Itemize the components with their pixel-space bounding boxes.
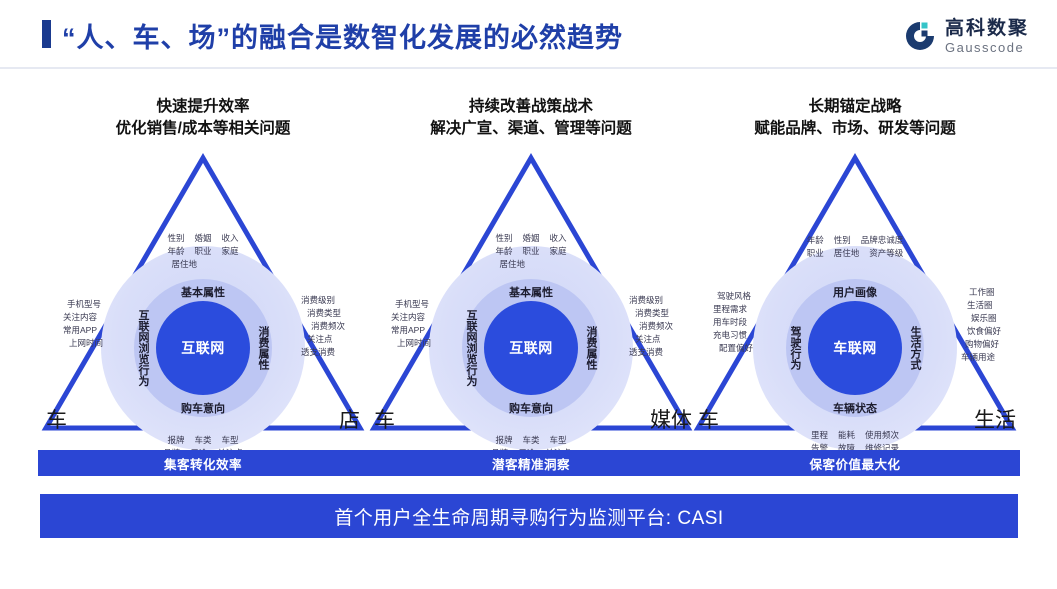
logo-text-en: Gausscode [945, 41, 1029, 54]
corner-label-right: 媒体 [650, 404, 692, 434]
outer-label: 居住地 [834, 247, 860, 260]
outer-labels-left: 驾驶风格 里程需求 用车时段 充电习惯 配置偏好 [713, 290, 753, 355]
outer-labels-right: 工作圈 生活圈 娱乐圈 饮食偏好 购物偏好 车辆用途 [961, 286, 1001, 364]
outer-label: 年龄 [167, 245, 184, 258]
outer-label: 消费类型 [307, 308, 341, 318]
triangle-diagram: 人 车 店 互联网 互联网 基本属性 购车意向 互联网浏览行为 消费属性 性别婚… [38, 150, 368, 440]
outer-label: 工作圈 [969, 287, 995, 297]
outer-label: 饮食偏好 [967, 326, 1001, 336]
outer-label: 透支消费 [629, 347, 663, 357]
heading-line-2: 赋能品牌、市场、研发等问题 [690, 118, 1020, 140]
heading-line-2: 解决广宣、渠道、管理等问题 [366, 118, 696, 140]
outer-label: 车类 [522, 434, 539, 447]
outer-label: 上网时间 [69, 338, 103, 348]
outer-label: 常用APP [63, 325, 97, 335]
outer-label: 职业 [807, 247, 824, 260]
outer-label: 驾驶风格 [717, 291, 751, 301]
outer-labels-right: 消费级别 消费类型 消费频次 关注点 透支消费 [301, 294, 345, 359]
corner-label-right: 店 [339, 404, 360, 434]
diagram-column-1: 快速提升效率 优化销售/成本等相关问题 人 车 店 互联网 互联网 基本属性 购… [38, 78, 368, 508]
outer-label: 使用频次 [865, 429, 899, 442]
corner-label-left: 车 [374, 404, 395, 434]
stage-bar: 集客转化效率 [38, 450, 368, 476]
outer-label: 年龄 [495, 245, 512, 258]
triangle-diagram: 人 车 媒体 互联网 互联网 基本属性 购车意向 互联网浏览行为 消费属性 性别… [366, 150, 696, 440]
outer-label: 充电习惯 [713, 330, 747, 340]
footer-banner: 首个用户全生命周期寻购行为监测平台: CASI [40, 494, 1018, 538]
concentric-rings: 互联网 互联网 基本属性 购车意向 互联网浏览行为 消费属性 性别婚姻收入 年龄… [101, 246, 305, 450]
outer-label: 报牌 [167, 434, 184, 447]
ring-label-right: 消费属性 [583, 326, 599, 370]
outer-label: 居住地 [499, 258, 525, 271]
outer-label: 品牌忠诚度 [861, 234, 904, 247]
outer-label: 上网时间 [397, 338, 431, 348]
outer-label: 关注内容 [63, 312, 97, 322]
outer-label: 性别 [834, 234, 851, 247]
outer-labels-top: 性别婚姻收入 年龄职业家庭 居住地 [162, 232, 243, 271]
ring-label-right: 生活方式 [907, 326, 923, 370]
ring-label-left: 互联网浏览行为 [135, 310, 151, 387]
ring-label-left: 驾驶行为 [787, 326, 803, 370]
outer-labels-left: 手机型号 关注内容 常用APP 上网时间 [63, 298, 103, 350]
outer-label: 消费类型 [635, 308, 669, 318]
outer-labels-top: 年龄性别品牌忠诚度 职业居住地资产等级 [802, 234, 909, 260]
outer-label: 生活圈 [967, 300, 993, 310]
outer-label: 消费级别 [629, 295, 663, 305]
outer-label: 车辆用途 [961, 352, 995, 362]
ring-label-left: 互联网浏览行为 [463, 310, 479, 387]
ring-core-label: 车联网 [833, 338, 877, 358]
outer-label: 职业 [522, 245, 539, 258]
heading-line-2: 优化销售/成本等相关问题 [38, 118, 368, 140]
stage-bar: 潜客精准洞察 [366, 450, 696, 476]
outer-label: 收入 [550, 232, 567, 245]
outer-label: 居住地 [171, 258, 197, 271]
heading-line-1: 快速提升效率 [38, 96, 368, 118]
ring-label-right: 消费属性 [255, 326, 271, 370]
outer-label: 里程 [811, 429, 828, 442]
outer-label: 车类 [194, 434, 211, 447]
diagram-column-2: 持续改善战策战术 解决广宣、渠道、管理等问题 人 车 媒体 互联网 互联网 基本… [366, 78, 696, 508]
outer-label: 手机型号 [395, 299, 429, 309]
brand-logo: 高科数聚 Gausscode [903, 14, 1029, 58]
outer-label: 关注内容 [391, 312, 425, 322]
outer-label: 消费频次 [639, 321, 673, 331]
ring-core: 互联网 [156, 301, 250, 395]
header-divider [0, 67, 1057, 69]
outer-labels-left: 手机型号 关注内容 常用APP 上网时间 [391, 298, 431, 350]
outer-label: 常用APP [391, 325, 425, 335]
outer-label: 婚姻 [194, 232, 211, 245]
outer-label: 收入 [222, 232, 239, 245]
outer-label: 资产等级 [869, 247, 903, 260]
ring-core-label: 互联网 [181, 338, 225, 358]
outer-label: 报牌 [495, 434, 512, 447]
outer-label: 消费频次 [311, 321, 345, 331]
ring-core: 车联网 [808, 301, 902, 395]
outer-label: 车型 [550, 434, 567, 447]
outer-label: 家庭 [550, 245, 567, 258]
outer-label: 消费级别 [301, 295, 335, 305]
outer-label: 性别 [167, 232, 184, 245]
stage-bar-label: 潜客精准洞察 [492, 454, 570, 473]
outer-label: 关注点 [635, 334, 661, 344]
triangle-diagram: 人 车 生活 车联网 车联网 用户画像 车辆状态 驾驶行为 生活方式 年龄性别品… [690, 150, 1020, 440]
diagram-column-3: 长期锚定战略 赋能品牌、市场、研发等问题 人 车 生活 车联网 车联网 用户画像… [690, 78, 1020, 508]
stage-bar-label: 保客价值最大化 [809, 454, 900, 473]
footer-banner-label: 首个用户全生命周期寻购行为监测平台: CASI [334, 503, 723, 530]
diagram-columns: 快速提升效率 优化销售/成本等相关问题 人 车 店 互联网 互联网 基本属性 购… [0, 78, 1057, 508]
corner-label-right: 生活 [974, 404, 1016, 434]
outer-label: 能耗 [838, 429, 855, 442]
title-accent-bar [42, 20, 51, 48]
heading-line-1: 持续改善战策战术 [366, 96, 696, 118]
logo-text-cn: 高科数聚 [945, 19, 1029, 38]
ring-label-bottom: 购车意向 [181, 400, 225, 416]
page-title: “人、车、场”的融合是数智化发展的必然趋势 [62, 16, 623, 55]
outer-label: 里程需求 [713, 304, 747, 314]
corner-label-left: 车 [46, 404, 67, 434]
concentric-rings: 车联网 车联网 用户画像 车辆状态 驾驶行为 生活方式 年龄性别品牌忠诚度 职业… [753, 246, 957, 450]
outer-label: 家庭 [222, 245, 239, 258]
outer-label: 配置偏好 [719, 343, 753, 353]
outer-label: 职业 [194, 245, 211, 258]
outer-labels-top: 性别婚姻收入 年龄职业家庭 居住地 [490, 232, 571, 271]
ring-label-top: 基本属性 [181, 284, 225, 300]
page-header: “人、车、场”的融合是数智化发展的必然趋势 高科数聚 Gausscode [0, 0, 1057, 68]
outer-label: 手机型号 [67, 299, 101, 309]
outer-label: 车型 [222, 434, 239, 447]
logo-icon [903, 19, 937, 53]
ring-label-bottom: 购车意向 [509, 400, 553, 416]
outer-label: 购物偏好 [965, 339, 999, 349]
column-heading: 持续改善战策战术 解决广宣、渠道、管理等问题 [366, 96, 696, 140]
column-heading: 快速提升效率 优化销售/成本等相关问题 [38, 96, 368, 140]
ring-label-top: 基本属性 [509, 284, 553, 300]
outer-label: 年龄 [807, 234, 824, 247]
corner-label-left: 车 [698, 404, 719, 434]
outer-label: 用车时段 [713, 317, 747, 327]
outer-label: 性别 [495, 232, 512, 245]
stage-bar: 保客价值最大化 [690, 450, 1020, 476]
ring-core-label: 互联网 [509, 338, 553, 358]
outer-label: 婚姻 [522, 232, 539, 245]
outer-label: 透支消费 [301, 347, 335, 357]
ring-label-bottom: 车辆状态 [833, 400, 877, 416]
outer-label: 娱乐圈 [971, 313, 997, 323]
ring-core: 互联网 [484, 301, 578, 395]
concentric-rings: 互联网 互联网 基本属性 购车意向 互联网浏览行为 消费属性 性别婚姻收入 年龄… [429, 246, 633, 450]
outer-label: 关注点 [307, 334, 333, 344]
ring-label-top: 用户画像 [833, 284, 877, 300]
column-heading: 长期锚定战略 赋能品牌、市场、研发等问题 [690, 96, 1020, 140]
outer-labels-right: 消费级别 消费类型 消费频次 关注点 透支消费 [629, 294, 673, 359]
stage-bar-label: 集客转化效率 [164, 454, 242, 473]
heading-line-1: 长期锚定战略 [690, 96, 1020, 118]
